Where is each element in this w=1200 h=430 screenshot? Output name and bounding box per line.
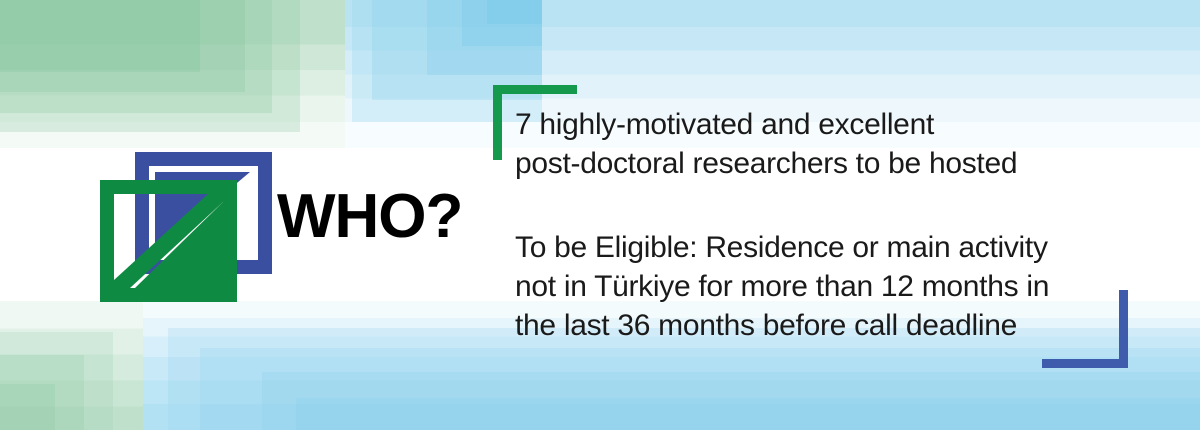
copy-block: 7 highly-motivated and excellent post-do… — [515, 105, 1135, 345]
paragraph-who-count: 7 highly-motivated and excellent post-do… — [515, 105, 1135, 183]
bottom-nested-rect-4 — [296, 398, 1200, 430]
paragraph-line: post-doctoral researchers to be hosted — [515, 144, 1135, 183]
bottom-left-nested-rect-3 — [0, 384, 55, 430]
overlapping-squares-logo-icon — [100, 152, 272, 302]
paragraph-line: 7 highly-motivated and excellent — [515, 105, 1135, 144]
who-info-banner: WHO? 7 highly-motivated and excellent po… — [0, 0, 1200, 430]
paragraph-eligibility: To be Eligible: Residence or main activi… — [515, 228, 1135, 345]
page-title: WHO? — [277, 186, 462, 248]
program-logo — [100, 152, 272, 302]
paragraph-line: To be Eligible: Residence or main activi… — [515, 228, 1135, 267]
top-right-nested-rect-5 — [487, 0, 542, 24]
paragraph-line: the last 36 months before call deadline — [515, 306, 1135, 345]
paragraph-line: not in Türkiye for more than 12 months i… — [515, 267, 1135, 306]
top-left-nested-rect-4 — [0, 0, 200, 72]
